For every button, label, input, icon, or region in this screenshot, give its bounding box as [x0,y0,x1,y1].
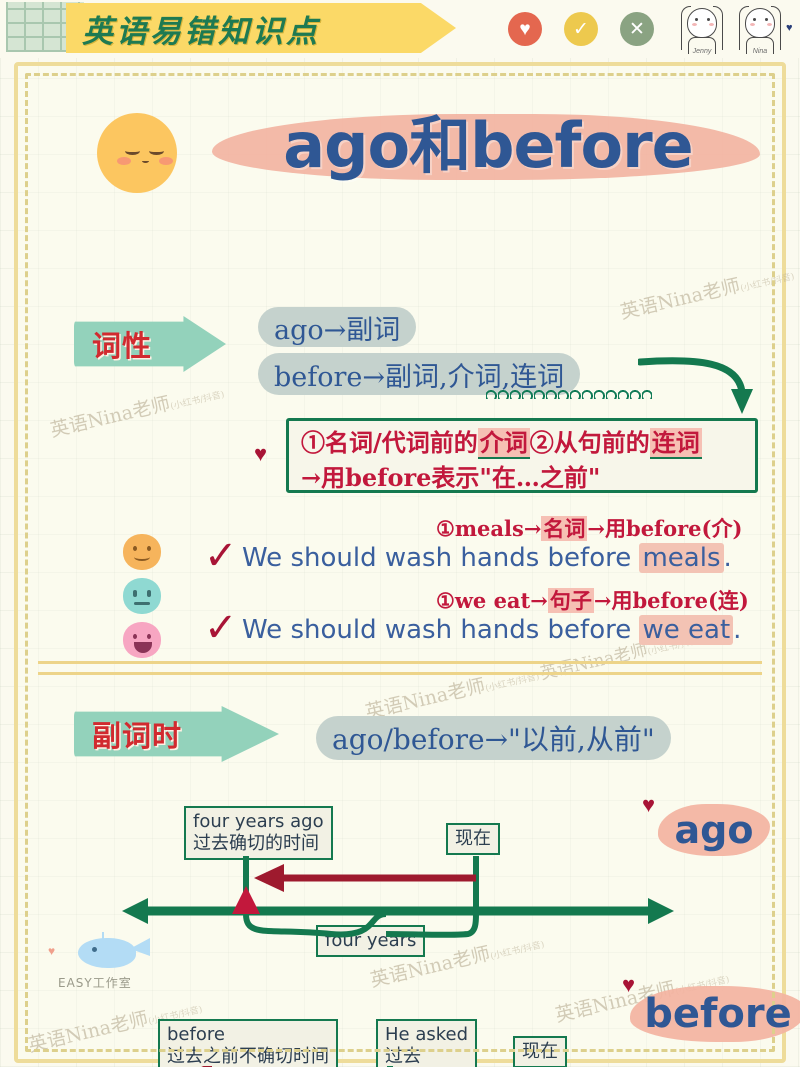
section-tag-cixing: 词性 [74,316,226,372]
section-tag-label: 词性 [74,323,152,365]
cross-glyph: ✕ [629,20,645,39]
whale-illustration [70,932,148,972]
watermark: 英语Nina老师(小红书/抖音) [617,258,796,324]
heart-chip-icon[interactable]: ♥ [508,12,542,46]
checkmark-icon: ✓ [204,536,238,576]
check-glyph: ✓ [573,20,589,39]
info-bar-text: ago→副词 [274,308,400,347]
word-badge-ago: ago [658,804,770,856]
box-line-cn: 现在 [522,1041,558,1063]
rule-box: ①名词/代词前的介词②从句前的连词 →用before表示"在…之前" [286,418,758,493]
main-card: ago和before 英语Nina老师(小红书/抖音) 英语Nina老师(小红书… [14,62,786,1063]
example-note-1: ①meals→名词→用before(介) [436,513,742,543]
word-badge-text: before [630,986,800,1042]
heart-icon: ♥ [642,792,655,818]
example-sentence-1: We should wash hands before meals. [242,543,732,573]
box-line-cn: 现在 [455,828,491,850]
section-divider [38,672,762,675]
avatar-pair: Jenny Nina [678,4,788,54]
timeline-box-he-asked: He asked 过去 [376,1019,477,1067]
banner-arrow: 英语易错知识点 [66,3,456,53]
info-bar-meaning: ago/before→"以前,从前" [316,716,671,760]
smiling-face-icon [123,534,161,570]
page-title-text: ago和before [208,96,768,196]
checkmark-icon: ✓ [204,608,238,648]
section-divider [38,661,762,664]
avatar-name: Nina [736,48,784,55]
mini-heart-icon: ♥ [786,22,793,34]
curved-arrow-icon [638,356,768,418]
avatar-nina: Nina [736,4,784,54]
cross-chip-icon[interactable]: ✕ [620,12,654,46]
example-note-2: ①we eat→句子→用before(连) [436,585,749,615]
sun-illustration [78,94,196,212]
section-tag-label: 副词时 [74,713,182,755]
watermark: 英语Nina老师(小红书/抖音) [47,376,226,442]
infographic-page: 英语易错知识点 ♥ ✓ ✕ Jenny [0,0,800,1067]
box-line-cn: 过去确切的时间 [193,833,324,855]
squiggly-underline [486,387,652,399]
box-line-cn: 过去 [385,1046,468,1067]
info-bar-ago: ago→副词 [258,307,416,347]
neutral-face-icon [123,578,161,614]
box-line-cn: 过去之前不确切时间 [167,1046,329,1067]
tiny-heart-icon: ♥ [48,944,55,958]
info-bar-text: ago/before→"以前,从前" [332,718,655,758]
section-tag-fucishi: 副词时 [74,706,279,762]
page-title: ago和before [208,96,768,196]
timeline-box-now-1: 现在 [446,823,500,855]
word-badge-text: ago [658,804,770,856]
box-line-en: He asked [385,1024,468,1046]
laughing-face-icon [123,622,161,658]
watermark: 英语Nina老师(小红书/抖音) [362,658,541,724]
avatar-jenny: Jenny [678,4,726,54]
timeline-box-four-years-ago: four years ago 过去确切的时间 [184,806,333,860]
timeline-diagram-ago [118,856,678,966]
heart-glyph: ♥ [519,20,530,39]
rule-line-1: ①名词/代词前的介词②从句前的连词 [301,425,745,460]
top-banner: 英语易错知识点 ♥ ✓ ✕ Jenny [0,0,800,58]
example-sentence-2: We should wash hands before we eat. [242,615,741,645]
box-line-en: before [167,1024,329,1046]
studio-label: EASY工作室 [58,974,132,991]
box-line-en: four years ago [193,811,324,833]
heart-bullet-icon: ♥ [254,441,267,467]
word-badge-before: before [630,986,800,1042]
avatar-name: Jenny [678,48,726,55]
check-chip-icon[interactable]: ✓ [564,12,598,46]
banner-title: 英语易错知识点 [82,6,320,51]
timeline-box-before: before 过去之前不确切时间 [158,1019,338,1067]
rule-line-2: →用before表示"在…之前" [301,460,745,495]
timeline-box-now-2: 现在 [513,1036,567,1067]
